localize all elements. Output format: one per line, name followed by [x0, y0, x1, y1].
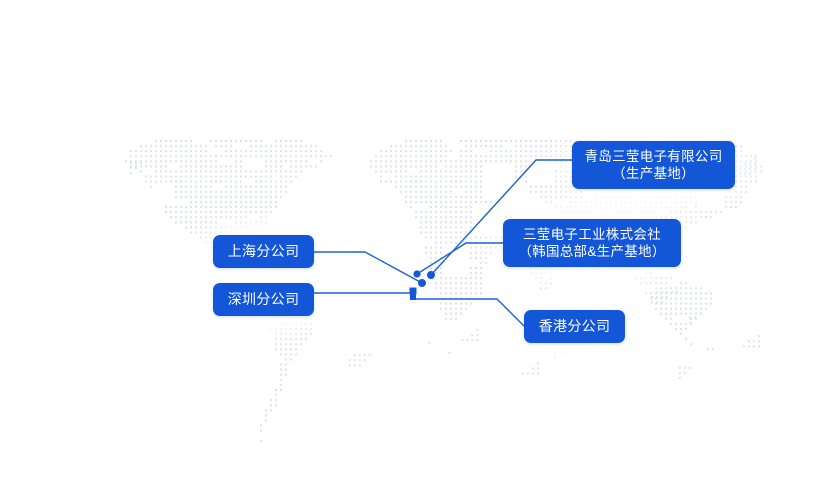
shanghai-label-line-1: 上海分公司	[228, 243, 300, 261]
hongkong-label[interactable]: 香港分公司	[524, 310, 625, 343]
qingdao-label[interactable]: 青岛三莹电子有限公司（生产基地）	[572, 141, 735, 189]
map-infographic: 青岛三莹电子有限公司（生产基地）三莹电子工业株式会社（韩国总部&生产基地）上海分…	[0, 0, 824, 480]
shanghai-label[interactable]: 上海分公司	[213, 235, 314, 268]
shenzhen-label-line-1: 深圳分公司	[228, 291, 300, 309]
label-layer: 青岛三莹电子有限公司（生产基地）三莹电子工业株式会社（韩国总部&生产基地）上海分…	[0, 0, 824, 480]
korea-hq-label[interactable]: 三莹电子工业株式会社（韩国总部&生产基地）	[503, 219, 681, 267]
qingdao-label-line-2: （生产基地）	[612, 165, 695, 182]
korea-hq-label-line-2: （韩国总部&生产基地）	[518, 243, 665, 260]
qingdao-label-line-1: 青岛三莹电子有限公司	[585, 148, 723, 165]
korea-hq-label-line-1: 三莹电子工业株式会社	[523, 226, 661, 243]
shenzhen-label[interactable]: 深圳分公司	[213, 283, 314, 316]
hongkong-label-line-1: 香港分公司	[539, 318, 611, 336]
